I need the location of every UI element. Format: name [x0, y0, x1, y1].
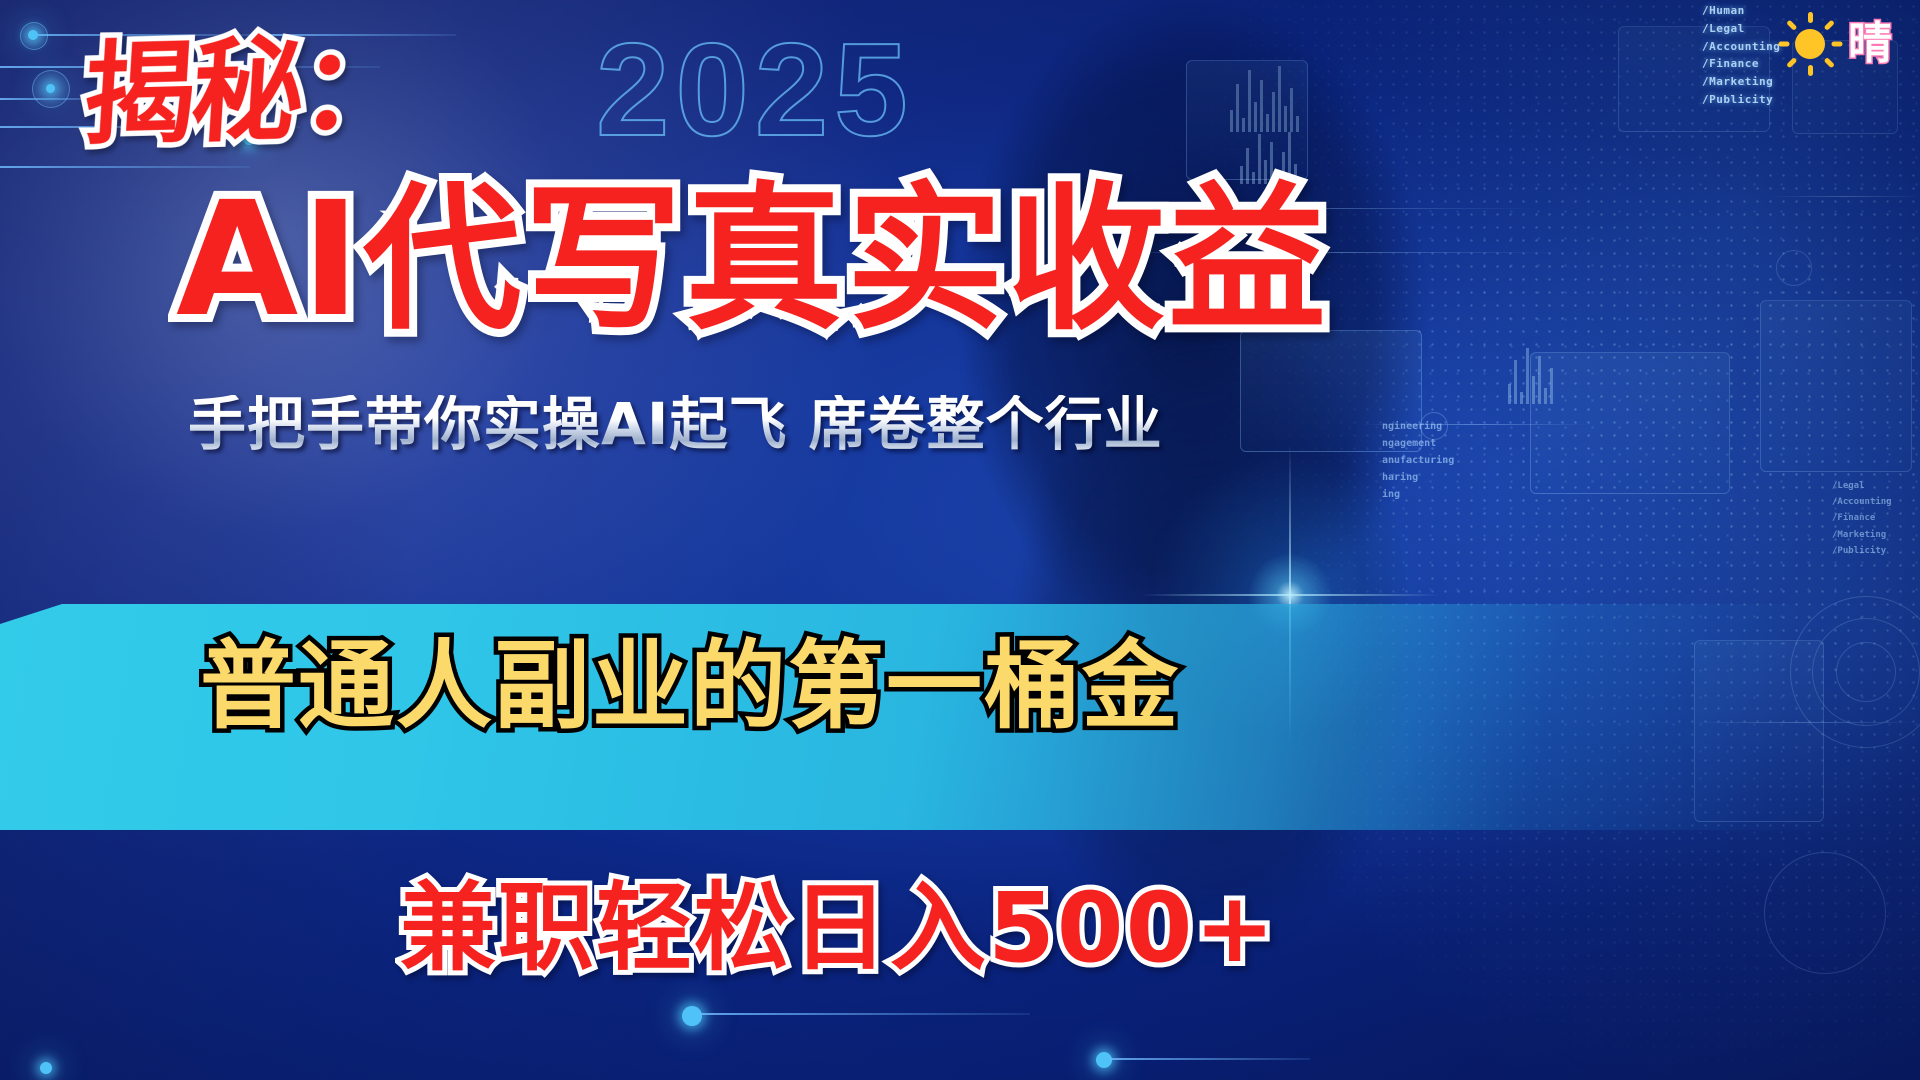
- sun-core: [1795, 29, 1825, 59]
- weather-widget[interactable]: 晴: [1778, 12, 1892, 76]
- page-title: AI代写真实收益: [176, 180, 1476, 341]
- circuit-node: [28, 30, 38, 40]
- sun-ray: [1786, 20, 1797, 31]
- subtitle-text: 手把手带你实操AI起飞 席卷整个行业: [188, 395, 1163, 453]
- sun-ray: [1808, 65, 1813, 76]
- sun-ray: [1786, 57, 1797, 68]
- sun-icon: [1778, 12, 1842, 76]
- circuit-line: [1110, 1058, 1310, 1060]
- tag-list-primary: /Human /Legal /Accounting /Finance /Mark…: [1702, 2, 1780, 109]
- circuit-line: [700, 1013, 1030, 1015]
- sun-ray: [1779, 42, 1790, 47]
- cta-text: 兼职轻松日入500+: [400, 880, 1277, 976]
- promo-poster: 2025 /Human /Legal /Accounting /Finance …: [0, 0, 1920, 1080]
- year-watermark: 2025: [596, 24, 914, 156]
- sun-ray: [1808, 12, 1813, 23]
- tag-list-secondary: ngineering ngagement anufacturing haring…: [1382, 418, 1454, 503]
- kicker-text: 揭秘：: [80, 32, 411, 152]
- tag-list-tertiary: /Legal /Accounting /Finance /Marketing /…: [1832, 478, 1892, 559]
- circuit-node: [46, 84, 55, 93]
- circuit-node: [40, 1062, 52, 1074]
- circuit-node: [682, 1006, 702, 1026]
- sun-ray: [1832, 42, 1843, 47]
- band-headline: 普通人副业的第一桶金: [200, 638, 1180, 734]
- weather-label: 晴: [1848, 22, 1892, 66]
- circuit-node: [1096, 1052, 1112, 1068]
- sun-ray: [1824, 20, 1835, 31]
- sun-ray: [1824, 57, 1835, 68]
